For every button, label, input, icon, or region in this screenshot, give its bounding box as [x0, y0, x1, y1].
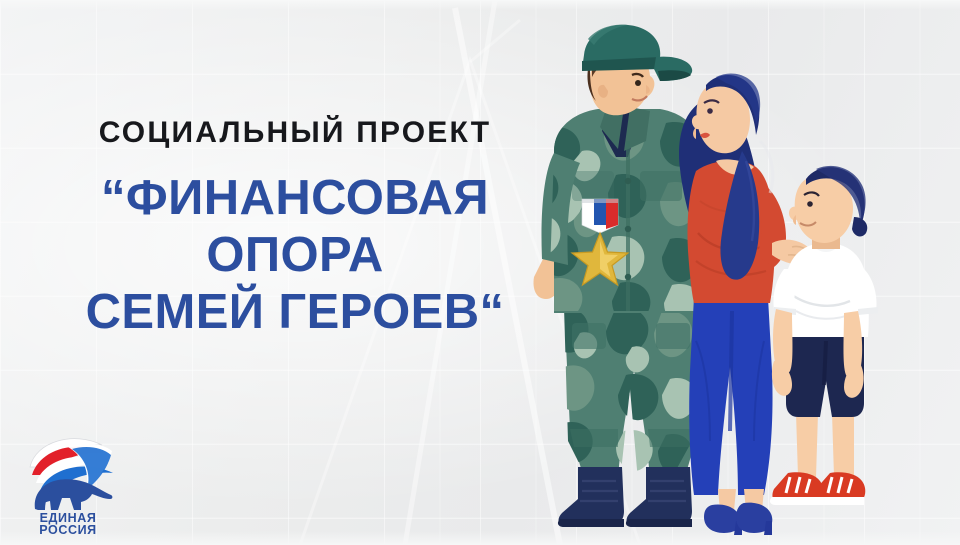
mother-pants: [689, 297, 772, 495]
united-russia-logo[interactable]: ЕДИНАЯ РОССИЯ: [12, 423, 124, 535]
soldier-pocket-right: [656, 323, 690, 349]
background-top-band: [0, 0, 960, 10]
page-title: “ФИНАНСОВАЯ ОПОРА СЕМЕЙ ГЕРОЕВ“: [0, 170, 590, 340]
figure-son: [770, 166, 878, 505]
kicker-text: СОЦИАЛЬНЫЙ ПРОЕКТ: [0, 118, 590, 148]
soldier-chest-pocket-right: [640, 171, 682, 201]
mother-shoes: [704, 503, 772, 535]
son-legs: [796, 413, 854, 477]
mother-eye: [707, 108, 713, 114]
logo-line-2: РОССИЯ: [39, 523, 97, 535]
soldier-head: [582, 25, 692, 116]
headline-block: СОЦИАЛЬНЫЙ ПРОЕКТ “ФИНАНСОВАЯ ОПОРА СЕМЕ…: [0, 118, 590, 340]
soldier-eye: [635, 80, 641, 86]
headline-line-1: “ФИНАНСОВАЯ: [0, 170, 590, 227]
poster-canvas: СОЦИАЛЬНЫЙ ПРОЕКТ “ФИНАНСОВАЯ ОПОРА СЕМЕ…: [0, 0, 960, 545]
son-eye: [807, 201, 813, 207]
son-head: [789, 166, 867, 243]
son-sneakers: [770, 472, 865, 505]
headline-line-3: СЕМЕЙ ГЕРОЕВ“: [0, 284, 590, 341]
soldier-boots: [558, 467, 692, 527]
headline-line-2: ОПОРА: [0, 227, 590, 284]
